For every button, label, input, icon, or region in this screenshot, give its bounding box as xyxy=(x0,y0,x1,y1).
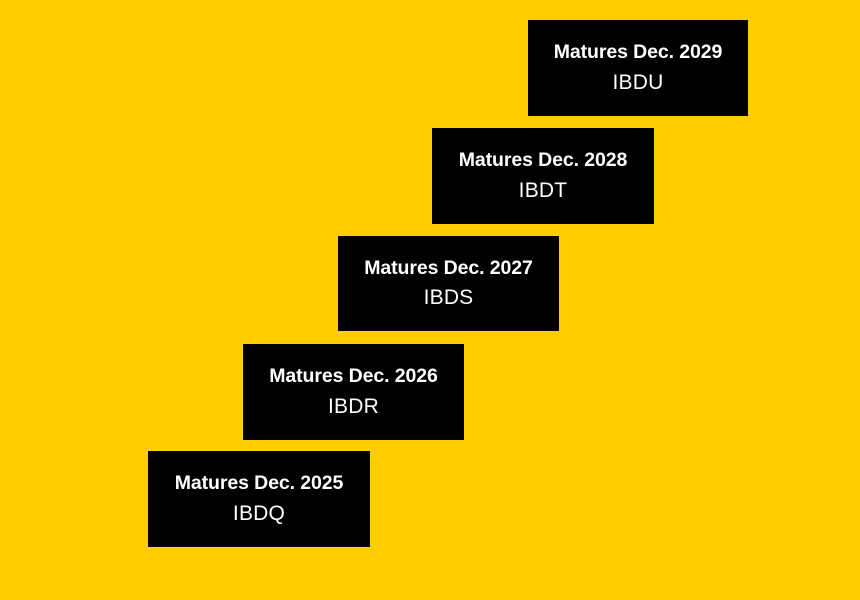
step-ticker-label: IBDR xyxy=(328,396,379,417)
step-ticker-label: IBDS xyxy=(424,287,474,308)
ladder-step[interactable]: Matures Dec. 2029 IBDU xyxy=(528,20,748,116)
ladder-step[interactable]: Matures Dec. 2027 IBDS xyxy=(338,236,559,331)
step-maturity-label: Matures Dec. 2025 xyxy=(175,474,343,494)
ladder-step[interactable]: Matures Dec. 2025 IBDQ xyxy=(148,451,370,547)
ladder-step[interactable]: Matures Dec. 2028 IBDT xyxy=(432,128,654,224)
step-maturity-label: Matures Dec. 2027 xyxy=(364,259,532,279)
step-maturity-label: Matures Dec. 2026 xyxy=(269,367,437,387)
ladder-step[interactable]: Matures Dec. 2026 IBDR xyxy=(243,344,464,440)
step-maturity-label: Matures Dec. 2028 xyxy=(459,151,627,171)
step-ticker-label: IBDT xyxy=(519,180,568,201)
step-ticker-label: IBDU xyxy=(613,72,664,93)
step-maturity-label: Matures Dec. 2029 xyxy=(554,43,722,63)
step-ticker-label: IBDQ xyxy=(233,503,285,524)
ladder-canvas: Matures Dec. 2029 IBDU Matures Dec. 2028… xyxy=(0,0,860,600)
